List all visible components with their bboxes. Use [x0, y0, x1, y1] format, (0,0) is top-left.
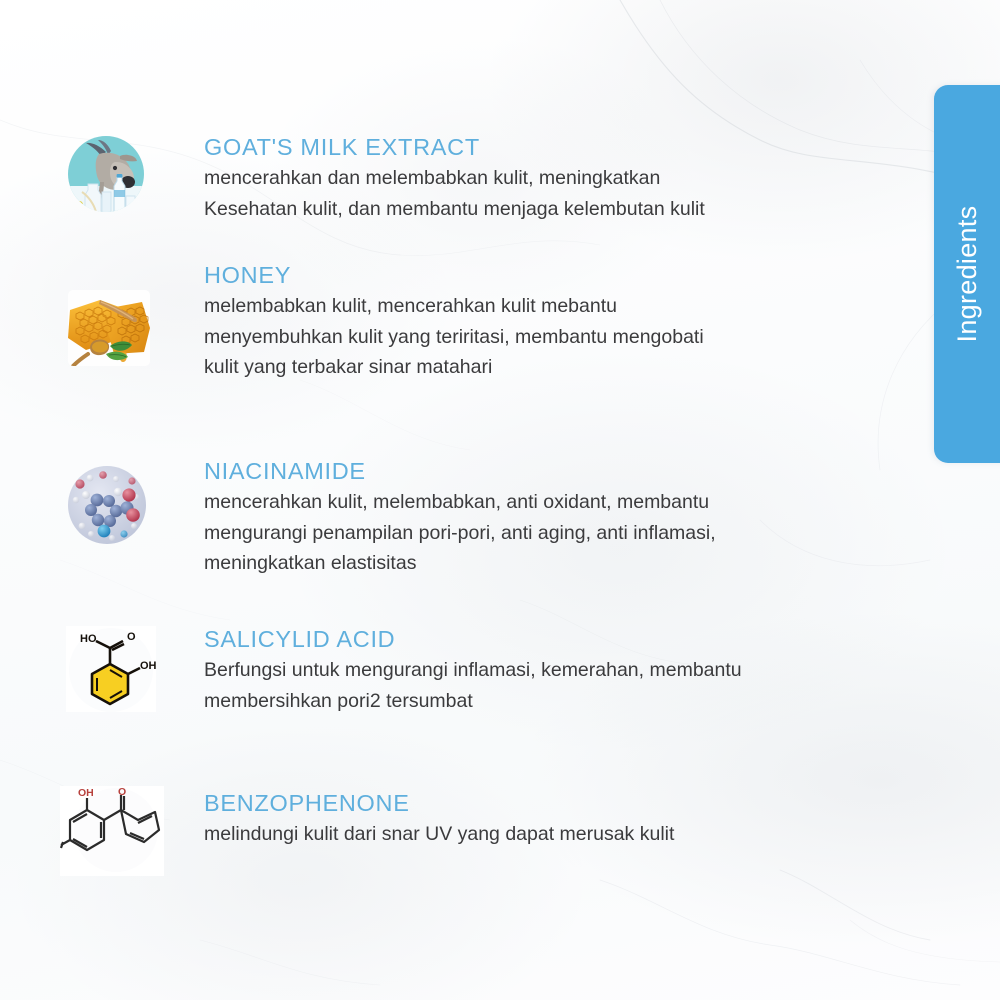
molecule-icon — [66, 464, 152, 550]
ingredient-title: HONEY — [204, 262, 884, 288]
label-oh: OH — [78, 787, 94, 799]
benzophenone-structure-icon: OH O — [60, 786, 164, 872]
side-tab-label: Ingredients — [934, 85, 1000, 463]
label-o: O — [127, 631, 136, 643]
ingredient-description: melembabkan kulit, mencerahkan kulit meb… — [204, 291, 884, 383]
honeycomb-icon — [66, 288, 152, 374]
side-tab-ingredients[interactable]: Ingredients — [934, 85, 1000, 463]
ingredient-description: melindungi kulit dari snar UV yang dapat… — [204, 819, 884, 850]
ingredient-description: mencerahkan kulit, melembabkan, anti oxi… — [204, 487, 884, 579]
ingredients-infographic: Ingredients — [0, 0, 1000, 1000]
ingredient-title: BENZOPHENONE — [204, 790, 884, 816]
goat-milk-icon — [66, 134, 152, 220]
ingredient-title: GOAT'S MILK EXTRACT — [204, 134, 884, 160]
ingredient-title: SALICYLID ACID — [204, 626, 884, 652]
ingredient-description: mencerahkan dan melembabkan kulit, menin… — [204, 163, 884, 224]
ingredient-text: GOAT'S MILK EXTRACT mencerahkan dan mele… — [204, 134, 884, 224]
ingredient-text: HONEY melembabkan kulit, mencerahkan kul… — [204, 262, 884, 383]
label-o: O — [118, 786, 126, 798]
ingredient-title: NIACINAMIDE — [204, 458, 884, 484]
ingredient-text: SALICYLID ACID Berfungsi untuk mengurang… — [204, 626, 884, 716]
ingredient-text: BENZOPHENONE melindungi kulit dari snar … — [204, 790, 884, 850]
ingredient-description: Berfungsi untuk mengurangi inflamasi, ke… — [204, 655, 884, 716]
label-ho: HO — [80, 633, 97, 645]
ingredient-text: NIACINAMIDE mencerahkan kulit, melembabk… — [204, 458, 884, 579]
salicylic-acid-structure-icon: HO O OH — [66, 626, 152, 712]
label-oh: OH — [140, 660, 156, 672]
